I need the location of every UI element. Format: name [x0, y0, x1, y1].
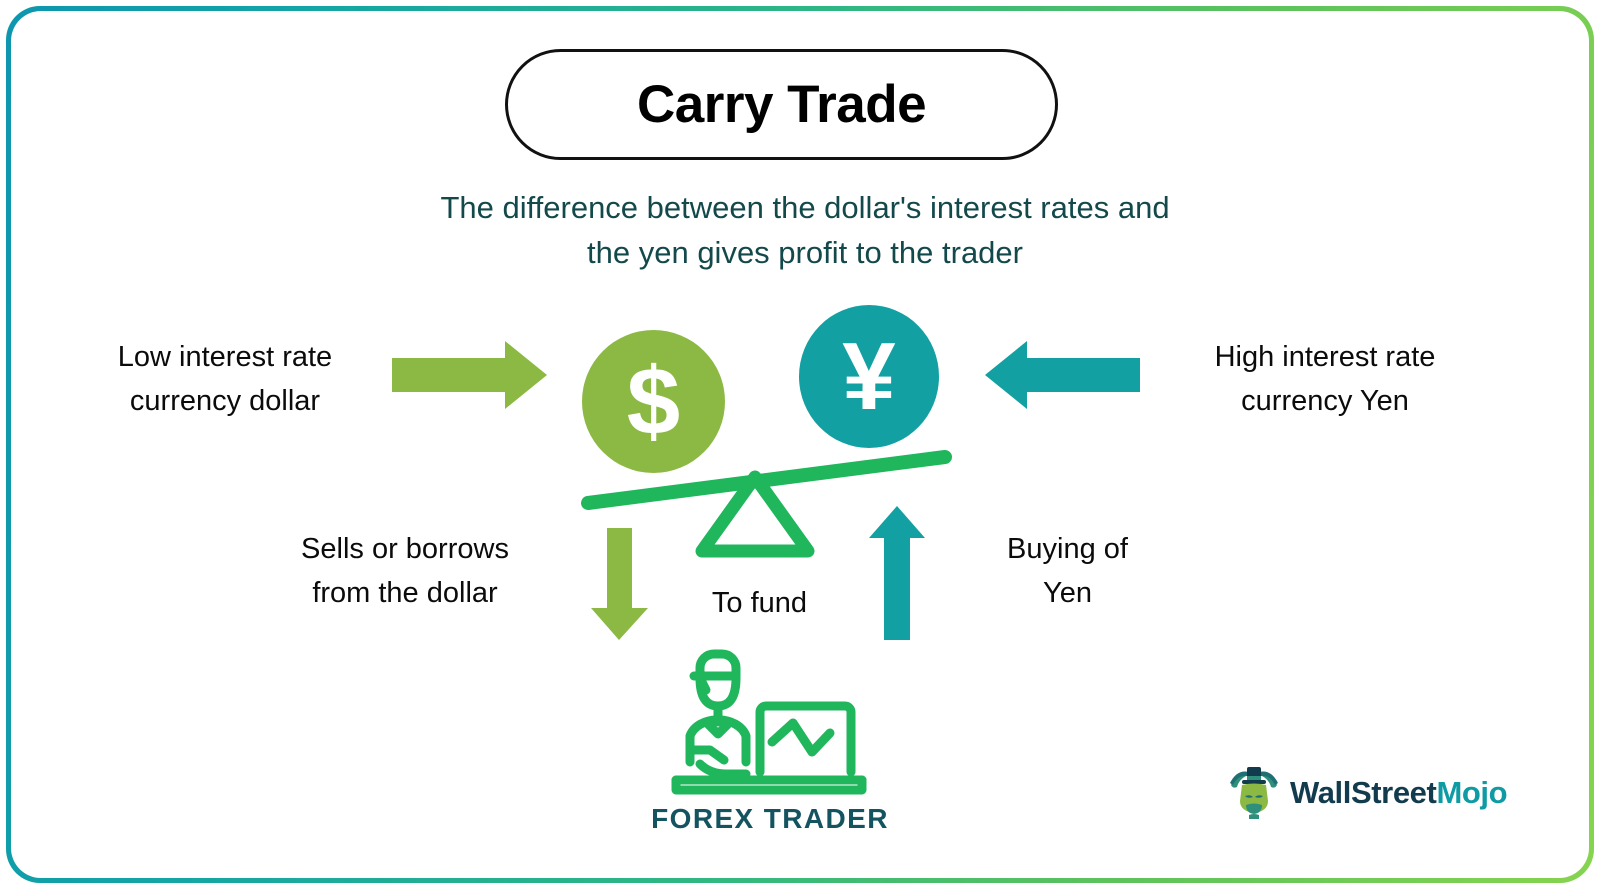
subtitle-line-2: the yen gives profit to the trader — [300, 230, 1310, 275]
low-interest-label-line-1: Low interest rate — [60, 336, 390, 380]
subtitle: The difference between the dollar's inte… — [300, 185, 1310, 276]
yen-coin-icon: ¥ — [799, 305, 939, 448]
title-pill: Carry Trade — [505, 49, 1058, 160]
sells-borrows-label: Sells or borrows from the dollar — [250, 528, 560, 615]
sells-borrows-line-2: from the dollar — [250, 572, 560, 616]
wallstreetmojo-logo: WallStreetMojo — [1228, 765, 1507, 819]
sells-borrows-line-1: Sells or borrows — [250, 528, 560, 572]
forex-trader-caption: FOREX TRADER — [600, 803, 940, 835]
carry-trade-infographic: Carry Trade The difference between the d… — [0, 0, 1600, 889]
to-fund-label: To fund — [672, 582, 847, 626]
dollar-symbol: $ — [627, 354, 680, 450]
yen-symbol: ¥ — [842, 329, 895, 425]
low-interest-label: Low interest rate currency dollar — [60, 336, 390, 423]
dollar-coin-icon: $ — [582, 330, 725, 473]
high-interest-label-line-1: High interest rate — [1150, 336, 1500, 380]
high-interest-label-line-2: currency Yen — [1150, 380, 1500, 424]
logo-accent-text: Mojo — [1436, 775, 1507, 810]
high-interest-label: High interest rate currency Yen — [1150, 336, 1500, 423]
buying-yen-label: Buying of Yen — [950, 528, 1185, 615]
logo-primary-text: WallStreet — [1290, 775, 1436, 810]
low-interest-label-line-2: currency dollar — [60, 380, 390, 424]
page-title: Carry Trade — [637, 78, 926, 131]
buying-yen-line-1: Buying of — [950, 528, 1185, 572]
logo-text: WallStreetMojo — [1290, 777, 1507, 808]
buying-yen-line-2: Yen — [950, 572, 1185, 616]
subtitle-line-1: The difference between the dollar's inte… — [300, 185, 1310, 230]
bull-mascot-icon — [1228, 765, 1280, 819]
